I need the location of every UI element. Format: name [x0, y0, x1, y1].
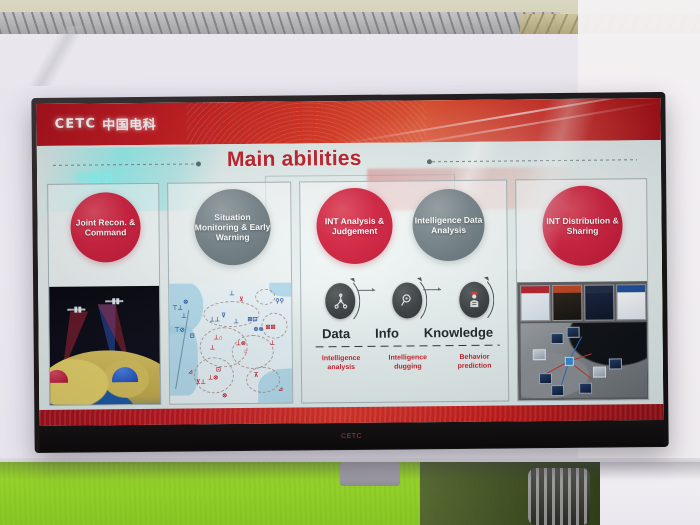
title-rule-left	[53, 160, 201, 167]
ceiling-pipe	[0, 26, 120, 86]
flow-label-knowledge: Knowledge	[424, 325, 493, 341]
distribution-node	[551, 333, 564, 344]
flow-connector	[357, 290, 375, 291]
thumbnail-content	[553, 293, 581, 320]
panel-int-distribution[interactable]: INT Distribution & Sharing	[515, 178, 649, 401]
circle-label-intelligence-data-analysis: Intelligence Data Analysis	[412, 189, 485, 262]
slide-body: Main abilities Joint Recon. & Command	[37, 140, 664, 410]
circle-label-int-distribution: INT Distribution & Sharing	[542, 185, 623, 266]
slide-header: CETC 中国电科	[36, 98, 660, 146]
presentation-slide: CETC 中国电科 Main abilities	[36, 98, 663, 426]
flow-stage-info	[390, 280, 424, 320]
thumbnail-content	[617, 292, 645, 319]
page-title: Main abilities	[227, 147, 362, 172]
cetc-logo: CETC 中国电科	[54, 114, 156, 134]
distribution-node	[551, 385, 564, 396]
distribution-node	[593, 367, 606, 378]
distribution-node	[539, 373, 552, 384]
flow-label-data: Data	[322, 326, 350, 341]
satellite-distribution-map	[520, 322, 647, 398]
satellite-icon	[105, 300, 123, 302]
tv-brand-logo: CETC	[341, 432, 362, 439]
network-nodes-icon	[325, 283, 355, 319]
tactical-map-illustration: ⊤⊥ ⊗ ⊥ ⊤⊘ ⊡ ⊥⊥ ⊽ ⊥ ⊞⊡ ⊕⊗ ⊥ ⚲⚲ ⊻	[169, 283, 292, 404]
flow-connector	[423, 289, 441, 290]
dashed-rule	[53, 163, 196, 165]
panel-int-analysis[interactable]: INT Analysis & Judgement Intelligence Da…	[299, 179, 509, 403]
distribution-node	[609, 358, 622, 369]
distribution-node	[567, 327, 580, 338]
zone-ring	[203, 301, 259, 328]
flow-stage-knowledge	[457, 280, 491, 320]
flow-stage-data	[323, 281, 357, 321]
logo-chinese-text: 中国电科	[102, 114, 156, 134]
distribution-hub	[565, 357, 574, 366]
data-info-knowledge-flow: Data Info Knowledge Intelligence analysi…	[301, 268, 508, 403]
flow-label-info: Info	[375, 326, 399, 341]
report-thumbnail	[520, 285, 550, 321]
report-thumbnail-row	[520, 284, 646, 321]
report-thumbnail	[616, 284, 646, 320]
report-thumbnail	[552, 285, 582, 321]
tv-screen: CETC 中国电科 Main abilities	[36, 98, 663, 426]
ability-panels: Joint Recon. & Command	[47, 178, 653, 406]
analyst-figure-icon	[459, 282, 489, 318]
distribution-node	[579, 383, 592, 394]
flow-icon-row	[323, 275, 491, 327]
floor-shadow	[0, 462, 700, 480]
satellite-earth-illustration	[49, 286, 160, 405]
flow-stage-labels: Data Info Knowledge	[310, 325, 506, 342]
circle-label-situation-monitoring: Situation Monitoring & Early Warning	[194, 189, 271, 266]
tv-bezel-bottom: CETC	[39, 420, 663, 452]
header-swoosh	[332, 98, 661, 146]
zone-ring	[232, 335, 274, 369]
panel-situation-monitoring[interactable]: Situation Monitoring & Early Warning	[167, 182, 293, 405]
dashed-rule	[432, 159, 637, 162]
magnifier-icon	[392, 282, 422, 318]
flow-divider	[316, 345, 500, 348]
thumbnail-content	[521, 293, 549, 320]
thumbnail-content	[585, 292, 613, 319]
zone-ring	[255, 289, 275, 305]
flow-sublabel-data: Intelligence analysis	[310, 354, 372, 373]
circle-label-joint-recon: Joint Recon. & Command	[70, 192, 141, 263]
distribution-imagery-illustration	[517, 281, 648, 400]
rule-dot	[196, 161, 201, 166]
flow-sublabels: Intelligence analysis Intelligence duggi…	[308, 352, 508, 373]
satellite-icon	[67, 309, 85, 311]
flow-sublabel-knowledge: Behavior prediction	[443, 353, 505, 372]
title-rule-right	[427, 156, 637, 164]
tv-display[interactable]: CETC 中国电科 Main abilities	[31, 92, 668, 453]
report-thumbnail	[584, 284, 614, 320]
circle-label-int-analysis: INT Analysis & Judgement	[316, 188, 393, 265]
panel-joint-recon-command[interactable]: Joint Recon. & Command	[47, 183, 161, 406]
flow-sublabel-info: Intelligence dugging	[377, 353, 439, 372]
distribution-node	[533, 349, 546, 360]
logo-latin-text: CETC	[54, 116, 96, 131]
